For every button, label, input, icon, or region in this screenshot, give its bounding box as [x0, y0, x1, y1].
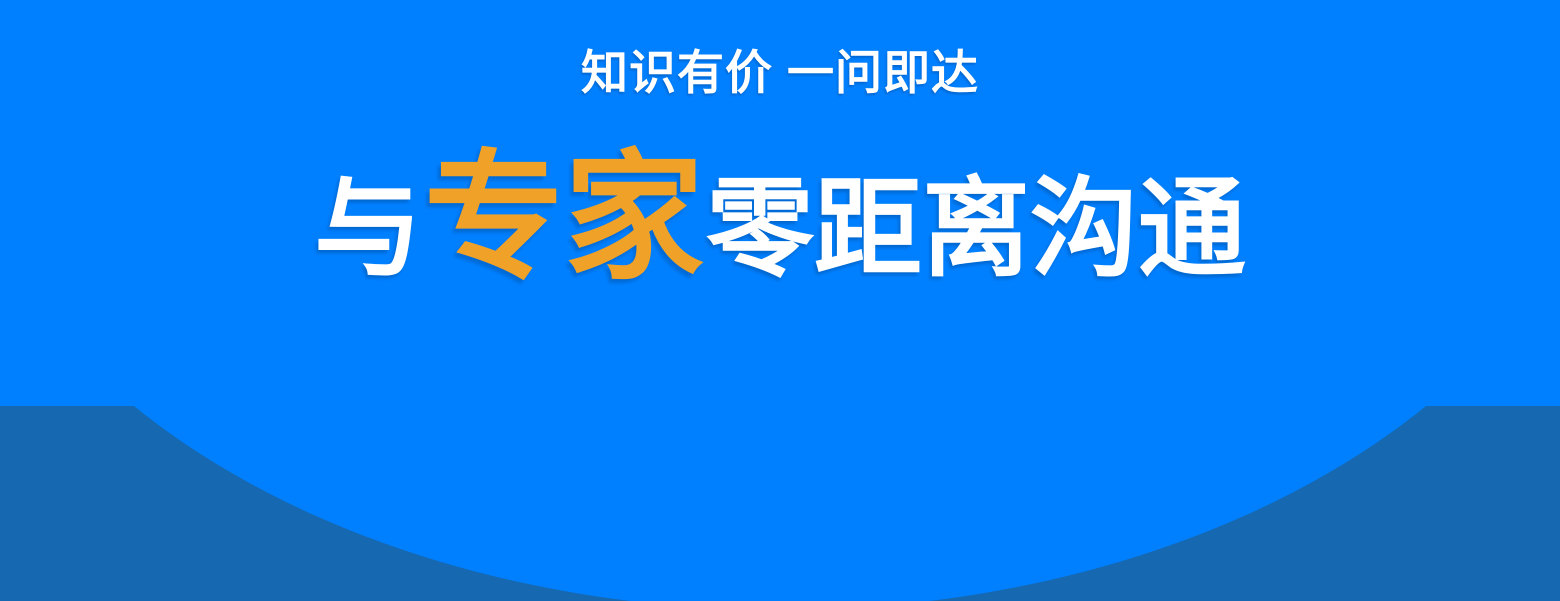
banner-headline: 与 专家 零距离沟通 [0, 148, 1560, 288]
banner-content: 知识有价 一问即达 与 专家 零距离沟通 [0, 0, 1560, 601]
promo-banner: 知识有价 一问即达 与 专家 零距离沟通 [0, 0, 1560, 601]
headline-tail-text: 零距离沟通 [706, 170, 1246, 288]
headline-accent-text: 专家 [424, 148, 704, 288]
headline-lead-text: 与 [314, 170, 422, 288]
banner-subtitle: 知识有价 一问即达 [0, 44, 1560, 103]
